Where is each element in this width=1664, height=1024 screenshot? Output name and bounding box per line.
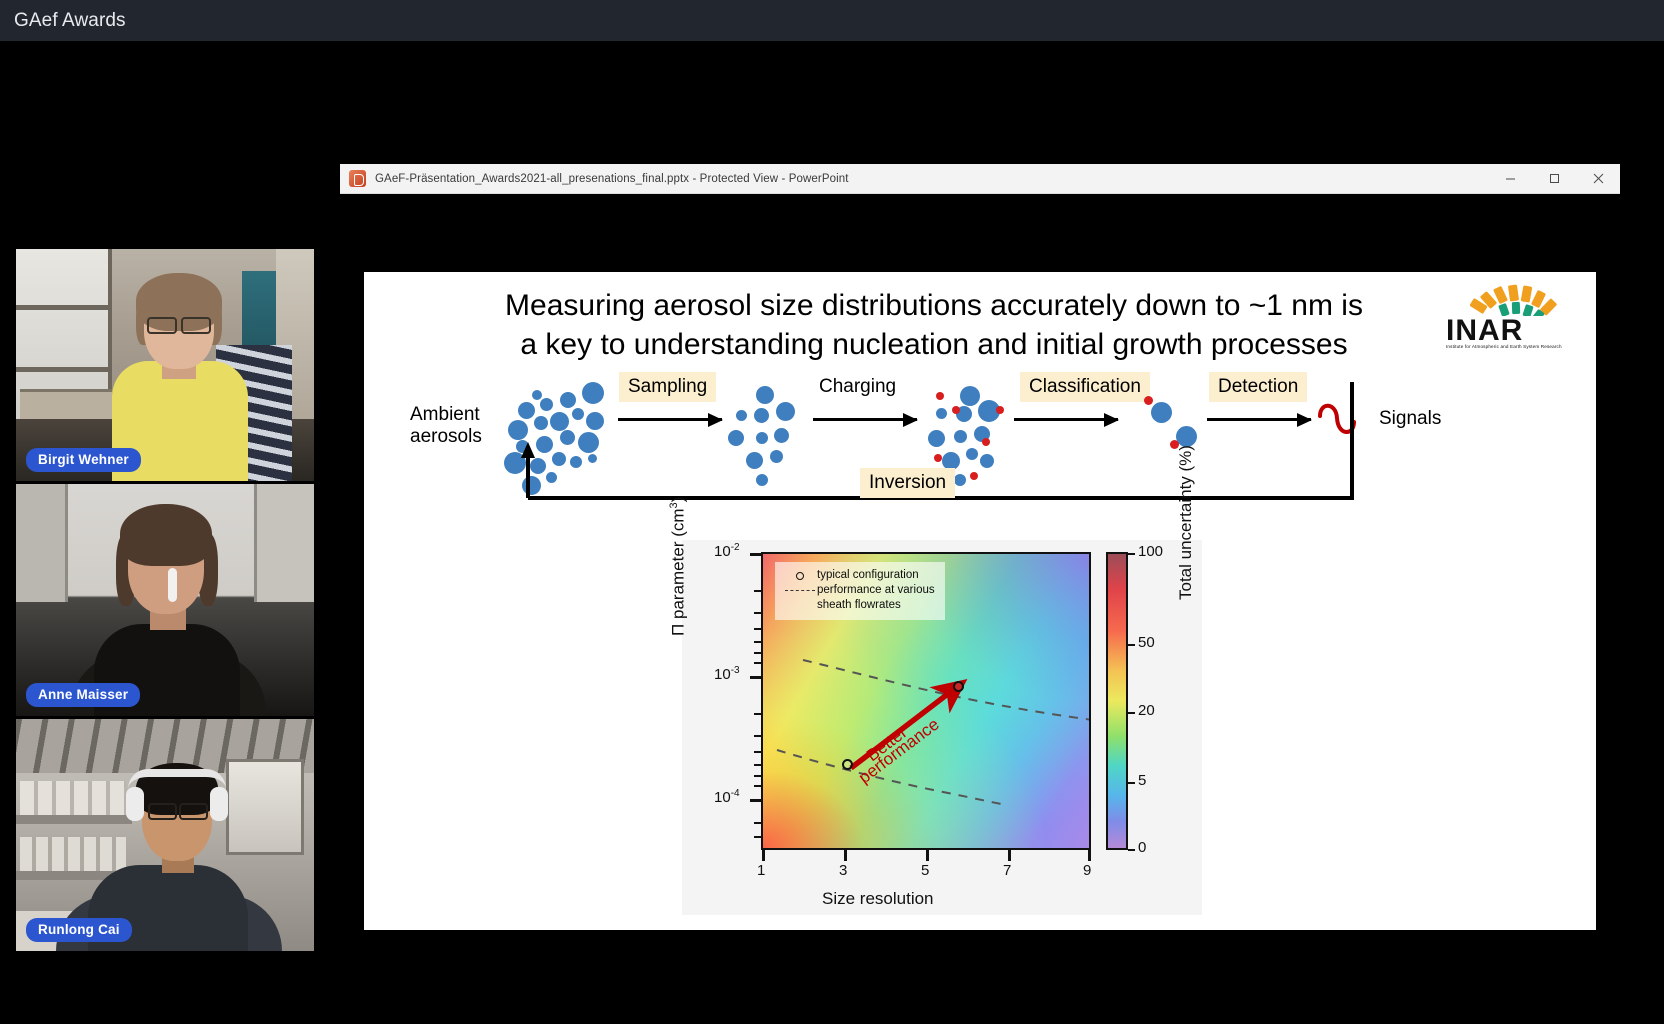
- meeting-title: GAef Awards: [0, 10, 126, 32]
- marker-typical-configuration-high: [953, 681, 964, 692]
- colorbar-tick-50: 50: [1138, 634, 1155, 651]
- slide-headline: Measuring aerosol size distributions acc…: [434, 286, 1434, 364]
- ytick-label-1e-4: 10-4: [714, 788, 740, 806]
- colorbar-tick-20: 20: [1138, 702, 1155, 719]
- participant-name-badge: Anne Maisser: [26, 683, 140, 707]
- maximize-icon[interactable]: [1532, 164, 1576, 194]
- participant-video: [16, 249, 314, 481]
- participant-tile[interactable]: Birgit Wehner: [16, 249, 314, 481]
- inar-arc-icon: [1470, 282, 1566, 316]
- uncertainty-heatmap-chart: Better performance typical configuration…: [682, 540, 1202, 915]
- legend-entry-typical-configuration: typical configuration: [783, 568, 935, 583]
- app-titlebar: GAef Awards: [0, 0, 1664, 41]
- participant-video: [16, 484, 314, 716]
- close-icon[interactable]: [1576, 164, 1620, 194]
- xtick-label-9: 9: [1083, 862, 1091, 879]
- xtick-label-7: 7: [1003, 862, 1011, 879]
- legend-label-continued: sheath flowrates: [783, 598, 935, 613]
- powerpoint-letterbox-top: [340, 194, 1620, 272]
- heatmap-plot-area: Better performance typical configuration…: [761, 552, 1091, 850]
- xtick-label-3: 3: [839, 862, 847, 879]
- marker-typical-configuration-low: [842, 759, 853, 770]
- meeting-stage: Birgit Wehner Anne Maisser: [0, 41, 1664, 1024]
- colorbar-tick-100: 100: [1138, 543, 1163, 560]
- ytick-label-1e-2: 10-2: [714, 542, 740, 560]
- inar-wordmark: INAR: [1446, 314, 1523, 348]
- chart-ylabel: Π parameter (cm3): [668, 497, 689, 636]
- legend-dashed-line-icon: [783, 590, 817, 591]
- colorbar: [1106, 552, 1128, 850]
- legend-label: typical configuration: [817, 568, 919, 583]
- legend-label: performance at various: [817, 583, 935, 598]
- legend-entry-performance: performance at various: [783, 583, 935, 598]
- sheath-flowrate-curve-upper: [803, 660, 1091, 720]
- participant-tile[interactable]: Anne Maisser: [16, 484, 314, 716]
- powerpoint-titlebar[interactable]: GAeF-Präsentation_Awards2021-all_presena…: [340, 164, 1620, 194]
- powerpoint-letterbox-bottom: [340, 930, 1620, 978]
- headline-line-1: Measuring aerosol size distributions acc…: [434, 286, 1434, 325]
- xtick-label-5: 5: [921, 862, 929, 879]
- powerpoint-window-title: GAeF-Präsentation_Awards2021-all_presena…: [375, 173, 849, 185]
- legend-circle-marker-icon: [783, 572, 817, 580]
- xtick-label-1: 1: [757, 862, 765, 879]
- inar-subtitle: Institute for Atmospheric and Earth Syst…: [1446, 344, 1562, 349]
- participant-tile[interactable]: Runlong Cai: [16, 719, 314, 951]
- chart-xlabel: Size resolution: [822, 889, 934, 909]
- participant-name-badge: Birgit Wehner: [26, 448, 141, 472]
- colorbar-label: Total uncertainty (%): [1176, 445, 1196, 600]
- process-diagram: Ambient aerosols: [364, 364, 1596, 524]
- powerpoint-icon: [349, 170, 366, 187]
- minimize-icon[interactable]: [1488, 164, 1532, 194]
- participant-video: [16, 719, 314, 951]
- headline-line-2: a key to understanding nucleation and in…: [434, 325, 1434, 364]
- video-conference-app: GAef Awards Birgit: [0, 0, 1664, 1024]
- inar-logo: INAR Institute for Atmospheric and Earth…: [1444, 282, 1572, 354]
- chart-legend: typical configuration performance at var…: [775, 562, 945, 620]
- colorbar-tick-0: 0: [1138, 839, 1146, 856]
- presentation-slide: Measuring aerosol size distributions acc…: [364, 272, 1596, 930]
- shared-screen-powerpoint: GAeF-Präsentation_Awards2021-all_presena…: [340, 164, 1620, 970]
- colorbar-tick-5: 5: [1138, 772, 1146, 789]
- participant-name-badge: Runlong Cai: [26, 918, 132, 942]
- inversion-feedback-loop: [364, 364, 1596, 524]
- process-step-inversion: Inversion: [860, 468, 955, 498]
- ytick-label-1e-3: 10-3: [714, 665, 740, 683]
